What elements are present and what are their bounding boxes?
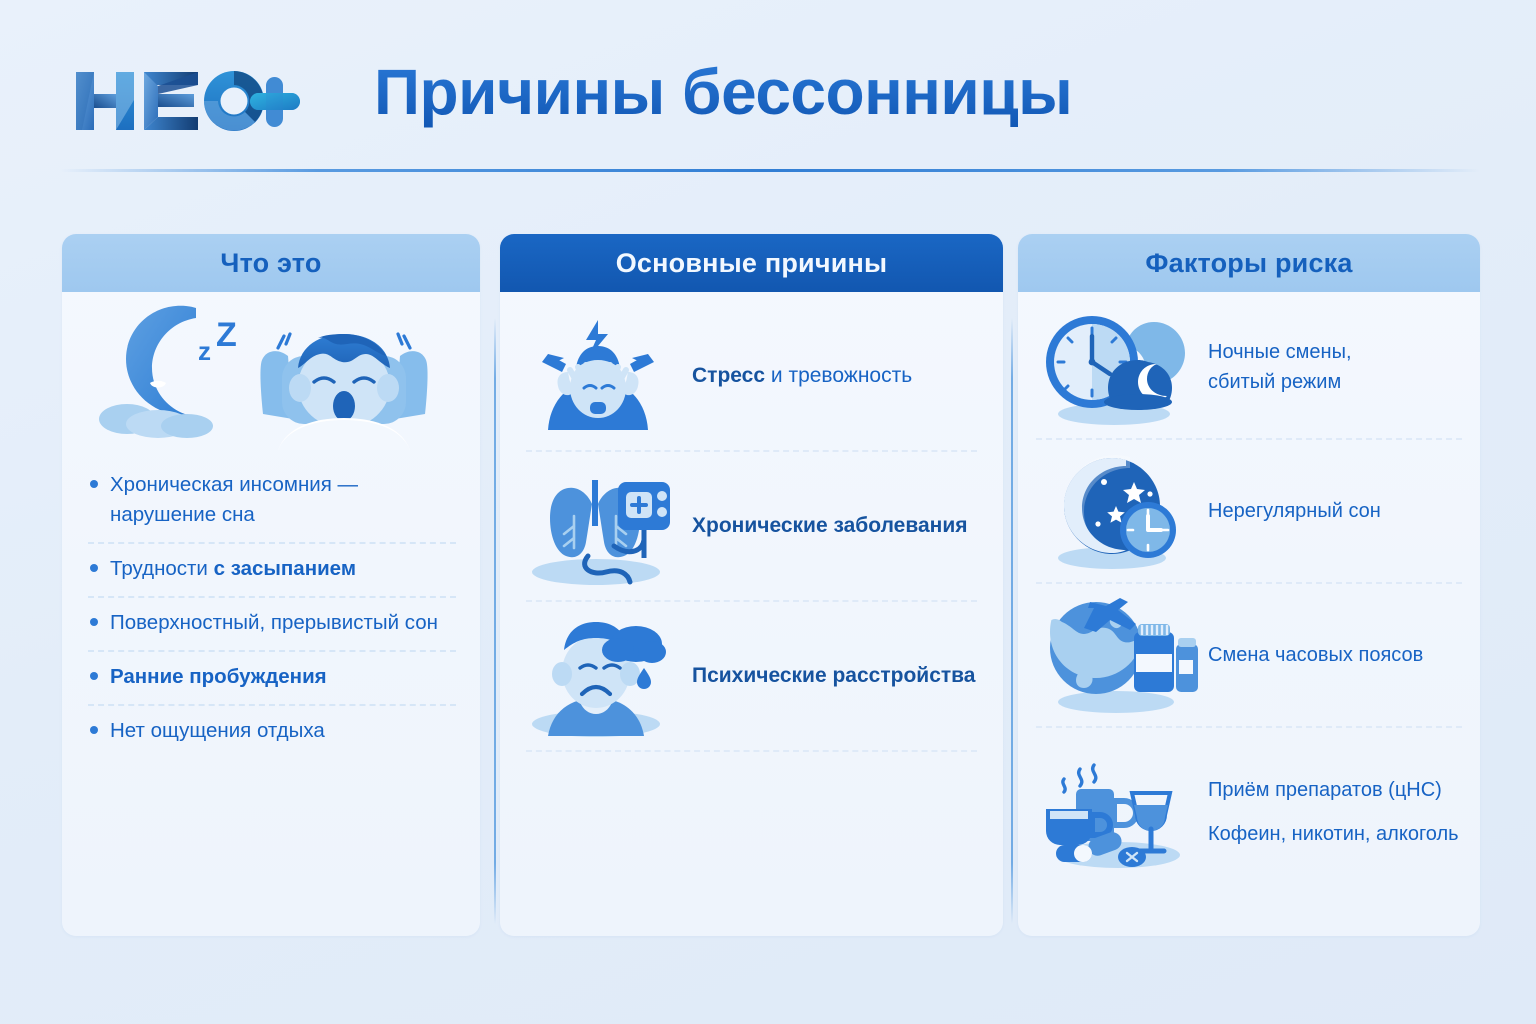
list-item: Нерегулярный сон [1018,440,1480,582]
column-separator [494,318,496,924]
clock-night-moon-icon [1034,304,1202,430]
list-item-label: Хронические заболевания [692,512,967,540]
list-item-label: Приём препаратов (цНС) Кофеин, никотин, … [1208,775,1459,849]
list-item: Поверхностный, прерывистый сон [84,598,460,650]
list-item-label-line2: сбитый режим [1208,367,1352,397]
header-divider [60,169,1480,172]
list-item-label: Ночные смены, сбитый режим [1208,337,1352,397]
card-causes-body: Стресс и тревожность [500,292,1003,936]
list-item-label-line1: Ночные смены, [1208,341,1352,363]
list-item-label-bold: Психические расстройства [692,664,975,687]
card-risk-header: Факторы риска [1018,234,1480,292]
bullet-dot [90,726,98,734]
sleeping-moon-and-yawning-person-illustration: z Z [82,300,460,450]
card-risk-factors: Факторы риска [1018,234,1480,936]
causes-list: Стресс и тревожность [500,302,1003,752]
column-separator [1011,318,1013,924]
svg-text:Z: Z [216,316,237,354]
coffee-wine-pills-icon [1034,749,1202,875]
list-item-label: Поверхностный, прерывистый сон [110,611,438,634]
list-item-label: Нерегулярный сон [1208,496,1381,526]
risk-list: Ночные смены, сбитый режим [1018,296,1480,896]
bullet-dot [90,480,98,488]
list-item-label-plain: Трудности [110,557,214,580]
list-item-label-bold: Стресс [692,364,765,387]
list-item-label-line1: Смена часовых поясов [1208,644,1423,666]
card-what-is-it: Что это z Z [62,234,480,936]
bullet-dot [90,564,98,572]
page-title: Причины бессонницы [374,55,1072,129]
card-main-causes: Основные причины [500,234,1003,936]
list-item-label-bold: с засыпанием [214,557,356,580]
card-risk-body: Ночные смены, сбитый режим [1018,292,1480,936]
card-what-header: Что это [62,234,480,292]
list-item-label-line1: Приём препаратов (цНС) [1208,779,1442,801]
list-item: Психические расстройства [500,602,1003,750]
globe-airplane-pills-icon [1034,592,1202,718]
moon-stars-clock-icon [1034,448,1202,574]
list-item: Хронические заболевания [500,452,1003,600]
list-item: Смена часовых поясов [1018,584,1480,726]
list-item-label-line1: Нерегулярный сон [1208,500,1381,522]
sad-face-raincloud-icon [518,610,678,742]
list-item-label-bold: Хронические заболевания [692,514,967,537]
list-item-label: Трудности с засыпанием [110,557,356,580]
list-item: Приём препаратов (цНС) Кофеин, никотин, … [1018,728,1480,896]
what-bullet-list: Хроническая инсомния — нарушение сна Тру… [84,460,460,758]
list-item: Хроническая инсомния — нарушение сна [84,460,460,542]
svg-text:z: z [198,336,211,366]
list-item: Ранние пробуждения [84,652,460,704]
list-item-label-rest: и тревожность [765,364,912,387]
list-item-label: Стресс и тревожность [692,362,912,390]
list-item: Нет ощущения отдыха [84,706,460,758]
list-item-label-line2: Кофеин, никотин, алкоголь [1208,819,1459,849]
stressed-head-icon [518,310,678,442]
bullet-dot [90,618,98,626]
card-what-body: z Z [62,292,480,936]
list-item: Стресс и тревожность [500,302,1003,450]
list-item-label: Смена часовых поясов [1208,640,1423,670]
divider [526,750,977,752]
card-causes-header: Основные причины [500,234,1003,292]
list-item: Трудности с засыпанием [84,544,460,596]
list-item-label: Хроническая инсомния — нарушение сна [110,473,358,526]
lungs-blood-pressure-icon [518,460,678,592]
list-item-label: Психические расстройства [692,662,975,690]
page-header: Причины бессонницы [0,0,1536,170]
brand-logo [72,62,300,140]
bullet-dot [90,672,98,680]
list-item-label: Нет ощущения отдыха [110,719,325,742]
list-item: Ночные смены, сбитый режим [1018,296,1480,438]
list-item-label: Ранние пробуждения [110,665,327,688]
